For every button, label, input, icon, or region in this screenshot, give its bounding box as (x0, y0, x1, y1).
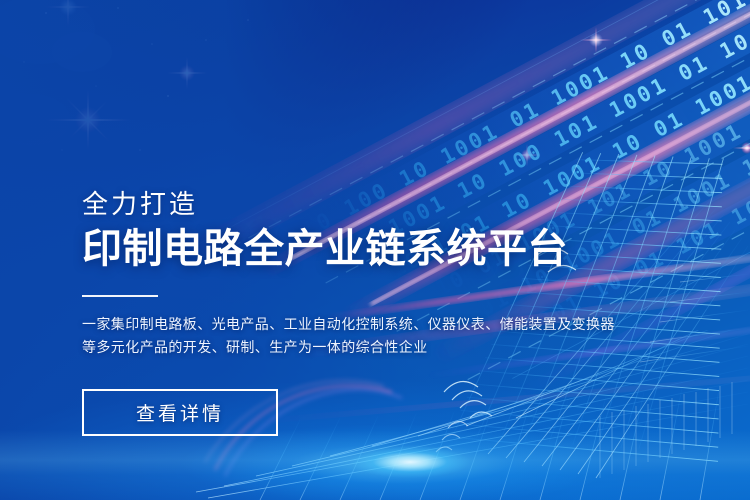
star-flare-icon (46, 80, 130, 159)
star-flare-icon (580, 27, 612, 53)
divider-rule (82, 295, 158, 297)
hero-headline: 印制电路全产业链系统平台 (82, 226, 642, 273)
star-flare-icon (46, 0, 90, 27)
hero-eyebrow: 全力打造 (82, 190, 642, 220)
star-flare-icon (167, 57, 207, 89)
star-flare-icon (513, 144, 541, 166)
hero-description-line-2: 等多元化产品的开发、研制、生产为一体的综合性企业 (82, 336, 642, 359)
hero-banner: 10 100 10 1001 01 1001 10 01 101 01 1001… (0, 0, 750, 500)
hero-description-line-1: 一家集印制电路板、光电产品、工业自动化控制系统、仪器仪表、储能装置及变换器 (82, 313, 642, 336)
hero-description: 一家集印制电路板、光电产品、工业自动化控制系统、仪器仪表、储能装置及变换器 等多… (82, 313, 642, 359)
star-flare-icon (733, 142, 750, 154)
hero-content: 全力打造 印制电路全产业链系统平台 一家集印制电路板、光电产品、工业自动化控制系… (82, 190, 642, 436)
view-details-button[interactable]: 查看详情 (82, 389, 278, 436)
